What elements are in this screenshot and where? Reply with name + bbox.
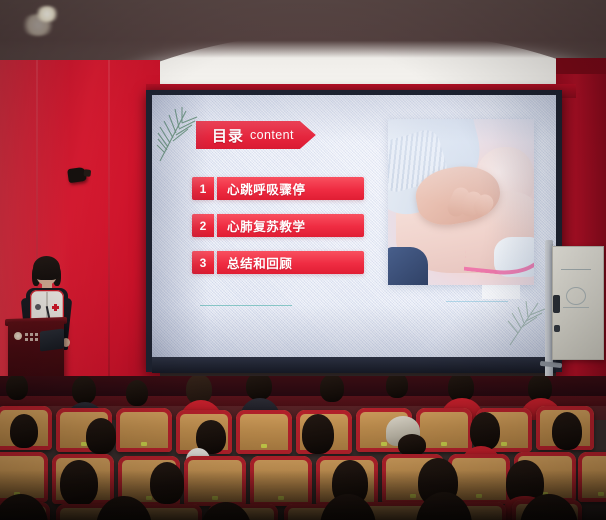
screen-bottom-bar (152, 357, 556, 373)
seat (184, 456, 246, 506)
laptop (40, 329, 64, 352)
agenda-item-number: 2 (192, 214, 214, 237)
audience-head (10, 414, 38, 448)
agenda-item: 1 心跳呼吸骤停 (192, 177, 364, 200)
audience-head (398, 434, 426, 456)
slide-highlight-block (482, 285, 520, 299)
seat (116, 408, 172, 452)
audience-head (302, 414, 334, 454)
agenda-item: 2 心肺复苏教学 (192, 214, 364, 237)
seat (250, 456, 312, 506)
agenda-item-number: 3 (192, 251, 214, 274)
ceiling-soffit (0, 0, 606, 58)
audience-head (320, 376, 344, 402)
cpr-chest-compression-photo (388, 119, 534, 285)
whiteboard-clip (553, 295, 560, 313)
agenda-item-number: 1 (192, 177, 214, 200)
slide-title-banner: 目录 content (196, 121, 316, 149)
agenda-item-label: 心跳呼吸骤停 (217, 177, 364, 200)
mobile-whiteboard (552, 246, 604, 360)
ceiling-spotlight (34, 6, 60, 22)
auditorium-scene: 目录 content 1 心跳呼吸骤停 2 心肺复苏教学 3 总结和回顾 (0, 0, 606, 520)
whiteboard-marking (561, 269, 591, 270)
seat (578, 452, 606, 502)
audience-head (150, 462, 184, 504)
audience-head (86, 418, 116, 454)
slide-accent-line (200, 305, 292, 306)
vest-badge (35, 304, 41, 310)
audience-head (552, 412, 582, 450)
audience-head (6, 376, 28, 400)
leaf-branch-bottom-right-icon (504, 293, 550, 349)
presenter-hair (33, 256, 60, 280)
audience-head (126, 380, 148, 406)
whiteboard-marking (563, 307, 589, 308)
whiteboard-marking (566, 287, 586, 305)
agenda-item-label: 总结和回顾 (217, 251, 364, 274)
slide-title-cn: 目录 (212, 125, 244, 146)
wall-speaker-icon (67, 167, 87, 183)
agenda-item: 3 总结和回顾 (192, 251, 364, 274)
slide-title-en: content (250, 128, 294, 142)
audience-head (246, 376, 272, 400)
agenda-item-label: 心肺复苏教学 (217, 214, 364, 237)
slide-accent-line (446, 301, 508, 302)
seat (236, 410, 292, 454)
slide-agenda-list: 1 心跳呼吸骤停 2 心肺复苏教学 3 总结和回顾 (192, 177, 364, 288)
whiteboard-clip (554, 325, 560, 332)
audience-seating (0, 376, 606, 520)
leaf-branch-top-left-icon (156, 103, 202, 165)
red-cross-icon (52, 304, 59, 311)
audience-head (60, 460, 98, 506)
audience-head (72, 376, 96, 404)
wall-seam (108, 60, 110, 400)
lectern-logo-icon (14, 332, 22, 340)
audience-head (470, 412, 500, 450)
presentation-slide: 目录 content 1 心跳呼吸骤停 2 心肺复苏教学 3 总结和回顾 (152, 95, 556, 357)
audience-head (386, 376, 408, 398)
photo-highlight (388, 119, 534, 285)
